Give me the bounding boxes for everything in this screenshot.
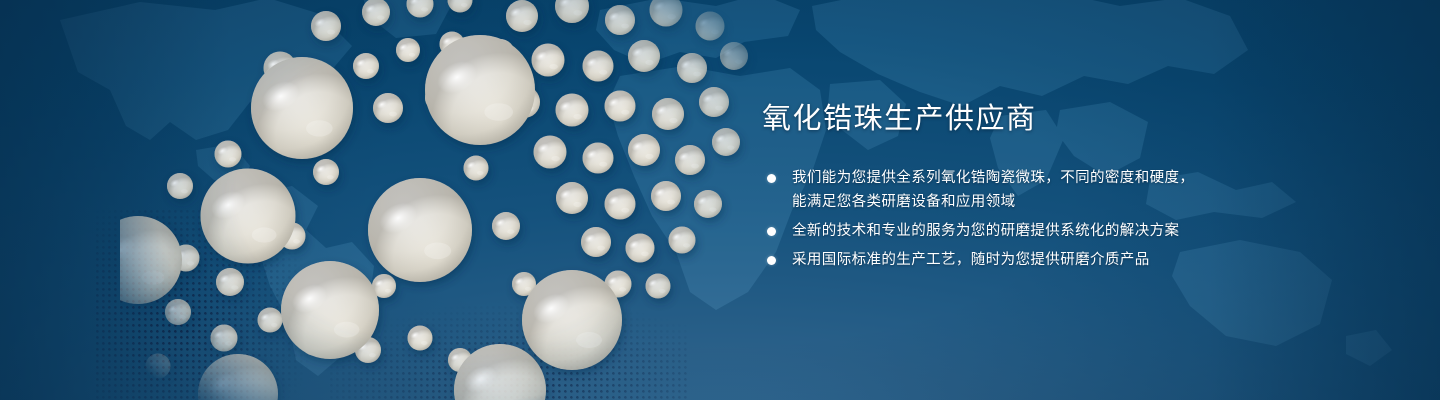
dot-bullet-icon (767, 174, 776, 183)
bullet-line: 采用国际标准的生产工艺，随时为您提供研磨介质产品 (792, 248, 1322, 272)
zirconia-beads-photo (120, 0, 760, 400)
hero-banner: 氧化锆珠生产供应商 我们能为您提供全系列氧化锆陶瓷微珠，不同的密度和硬度， 能满… (0, 0, 1440, 400)
bullet-line: 能满足您各类研磨设备和应用领域 (792, 190, 1322, 214)
bullet-line: 我们能为您提供全系列氧化锆陶瓷微珠，不同的密度和硬度， (792, 166, 1322, 190)
dot-bullet-icon (767, 256, 776, 265)
banner-copy: 氧化锆珠生产供应商 我们能为您提供全系列氧化锆陶瓷微珠，不同的密度和硬度， 能满… (762, 104, 1322, 272)
list-item: 我们能为您提供全系列氧化锆陶瓷微珠，不同的密度和硬度， 能满足您各类研磨设备和应… (762, 166, 1322, 214)
list-item: 采用国际标准的生产工艺，随时为您提供研磨介质产品 (762, 248, 1322, 272)
bullet-line: 全新的技术和专业的服务为您的研磨提供系统化的解决方案 (792, 219, 1322, 243)
dot-bullet-icon (767, 227, 776, 236)
feature-bullet-list: 我们能为您提供全系列氧化锆陶瓷微珠，不同的密度和硬度， 能满足您各类研磨设备和应… (762, 166, 1322, 272)
list-item: 全新的技术和专业的服务为您的研磨提供系统化的解决方案 (762, 219, 1322, 243)
page-title: 氧化锆珠生产供应商 (762, 104, 1322, 136)
